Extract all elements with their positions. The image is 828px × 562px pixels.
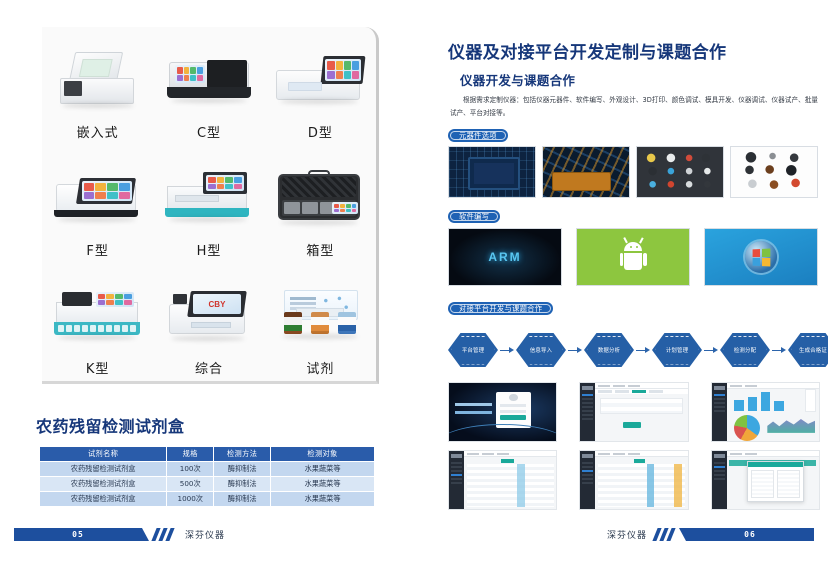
product-showcase-panel: 嵌入式 C型 — [42, 27, 379, 384]
chip-closeup-image — [448, 146, 536, 198]
flow-step-label: 平台管理 — [462, 346, 484, 354]
detail-modal-screen-image — [711, 450, 820, 510]
flow-step-label: 检测分配 — [734, 346, 756, 354]
flow-step-label: 计划管理 — [666, 346, 688, 354]
right-page-footer: 深芬仪器 06 — [607, 527, 814, 541]
pill-components: 元器件选项 — [448, 129, 508, 142]
left-page: 嵌入式 C型 — [0, 0, 414, 562]
product-label: 试剂 — [306, 358, 334, 377]
cell-name: 农药残留检测试剂盒 — [40, 492, 167, 507]
column-header-target: 检测对象 — [271, 447, 375, 462]
page-number: 06 — [744, 530, 756, 539]
cell-method: 酶抑制法 — [214, 477, 271, 492]
product-cell-reagent[interactable]: 试剂 — [265, 263, 376, 381]
component-chart-image — [636, 146, 724, 198]
flow-step-4: 计划管理 — [652, 333, 702, 367]
cell-spec: 100次 — [167, 462, 214, 477]
page-number: 05 — [72, 530, 84, 539]
flow-arrow-icon — [704, 345, 718, 355]
cell-target: 水果蔬菜等 — [271, 477, 375, 492]
column-header-method: 检测方法 — [214, 447, 271, 462]
column-header-name: 试剂名称 — [40, 447, 167, 462]
pill-platform: 对接平台开发与课题合作 — [448, 302, 553, 315]
flow-arrow-icon — [500, 345, 514, 355]
product-grid: 嵌入式 C型 — [42, 27, 376, 381]
product-image-f-type — [48, 163, 148, 235]
table-header-row: 试剂名称 规格 检测方法 检测对象 — [40, 447, 375, 462]
column-header-spec: 规格 — [167, 447, 214, 462]
flow-step-5: 检测分配 — [720, 333, 770, 367]
right-page: 仪器及对接平台开发定制与课题合作 仪器开发与课题合作 根据需求定制仪器：包括仪器… — [414, 0, 828, 562]
product-image-h-type — [159, 163, 259, 235]
slash-decoration-icon — [655, 528, 676, 541]
cell-name: 农药残留检测试剂盒 — [40, 477, 167, 492]
product-cell-h-type[interactable]: H型 — [153, 145, 264, 263]
product-cell-embedded[interactable]: 嵌入式 — [42, 27, 153, 145]
page-number-bar-right: 06 — [686, 528, 814, 541]
product-image-case-type — [270, 163, 370, 235]
cell-spec: 1000次 — [167, 492, 214, 507]
brochure-spread: 嵌入式 C型 — [0, 0, 828, 562]
product-image-reagent-kit — [270, 281, 370, 353]
footer-brand: 深芬仪器 — [607, 528, 647, 541]
footer-brand: 深芬仪器 — [185, 528, 225, 541]
flow-step-label: 数据分析 — [598, 346, 620, 354]
slash-decoration-icon — [154, 528, 175, 541]
product-image-c-type — [159, 45, 259, 117]
cell-target: 水果蔬菜等 — [271, 462, 375, 477]
android-logo-icon — [576, 228, 690, 286]
data-table-screen-image — [579, 450, 688, 510]
flow-arrow-icon — [636, 345, 650, 355]
page-number-bar-left: 05 — [14, 528, 142, 541]
product-image-d-type — [270, 45, 370, 117]
cell-method: 酶抑制法 — [214, 462, 271, 477]
login-screen-image — [448, 382, 557, 442]
section-subtitle: 仪器开发与课题合作 — [460, 70, 575, 89]
cell-name: 农药残留检测试剂盒 — [40, 462, 167, 477]
product-image-k-type — [48, 281, 148, 353]
arm-logo-icon: ARM — [448, 228, 562, 286]
cell-spec: 500次 — [167, 477, 214, 492]
table-row: 农药残留检测试剂盒 1000次 酶抑制法 水果蔬菜等 — [40, 492, 375, 507]
product-cell-case-type[interactable]: 箱型 — [265, 145, 376, 263]
windows-logo-icon — [704, 228, 818, 286]
kit-section-title: 农药残留检测试剂盒 — [36, 413, 185, 437]
circuit-board-image — [542, 146, 630, 198]
product-label: K型 — [86, 358, 110, 377]
product-label: D型 — [308, 122, 333, 141]
product-cell-k-type[interactable]: K型 — [42, 263, 153, 381]
page-title: 仪器及对接平台开发定制与课题合作 — [448, 38, 726, 63]
cell-method: 酶抑制法 — [214, 492, 271, 507]
flow-arrow-icon — [772, 345, 786, 355]
pill-software: 软件编写 — [448, 210, 500, 223]
flow-step-label: 生成合格证 — [799, 346, 827, 354]
dashboard-screen-image — [711, 382, 820, 442]
flow-step-3: 数据分析 — [584, 333, 634, 367]
form-screen-image — [579, 382, 688, 442]
product-label: H型 — [197, 240, 222, 259]
flow-step-2: 信息导入 — [516, 333, 566, 367]
device-brand-logo: CBY — [209, 300, 226, 309]
left-page-footer: 05 深芬仪器 — [14, 527, 254, 541]
platform-flow-diagram: 平台管理 信息导入 数据分析 计划管理 检测分配 生成合格证 — [448, 331, 820, 369]
flow-step-1: 平台管理 — [448, 333, 498, 367]
product-label: 综合 — [195, 358, 223, 377]
intro-paragraph: 根据需求定制仪器：包括仪器元器件、软件编写、外观设计、3D打印、颜色调试、模具开… — [450, 94, 818, 120]
component-assortment-image — [730, 146, 818, 198]
product-cell-d-type[interactable]: D型 — [265, 27, 376, 145]
table-row: 农药残留检测试剂盒 500次 酶抑制法 水果蔬菜等 — [40, 477, 375, 492]
table-row: 农药残留检测试剂盒 100次 酶抑制法 水果蔬菜等 — [40, 462, 375, 477]
product-image-embedded — [48, 45, 148, 117]
product-label: 箱型 — [306, 240, 334, 259]
component-image-row — [448, 146, 818, 198]
product-cell-f-type[interactable]: F型 — [42, 145, 153, 263]
flow-arrow-icon — [568, 345, 582, 355]
product-label: 嵌入式 — [77, 122, 119, 141]
product-label: C型 — [197, 122, 221, 141]
arm-logo-text: ARM — [488, 250, 521, 264]
product-cell-c-type[interactable]: C型 — [153, 27, 264, 145]
product-image-multi: CBY — [159, 281, 259, 353]
platform-screenshot-grid — [448, 382, 820, 510]
software-image-row: ARM — [448, 228, 818, 286]
cell-target: 水果蔬菜等 — [271, 492, 375, 507]
product-label: F型 — [86, 240, 108, 259]
flow-step-6: 生成合格证 — [788, 333, 828, 367]
list-screen-image — [448, 450, 557, 510]
flow-step-label: 信息导入 — [530, 346, 552, 354]
reagent-kit-table: 试剂名称 规格 检测方法 检测对象 农药残留检测试剂盒 100次 酶抑制法 水果… — [39, 446, 375, 507]
product-cell-multi[interactable]: CBY 综合 — [153, 263, 264, 381]
